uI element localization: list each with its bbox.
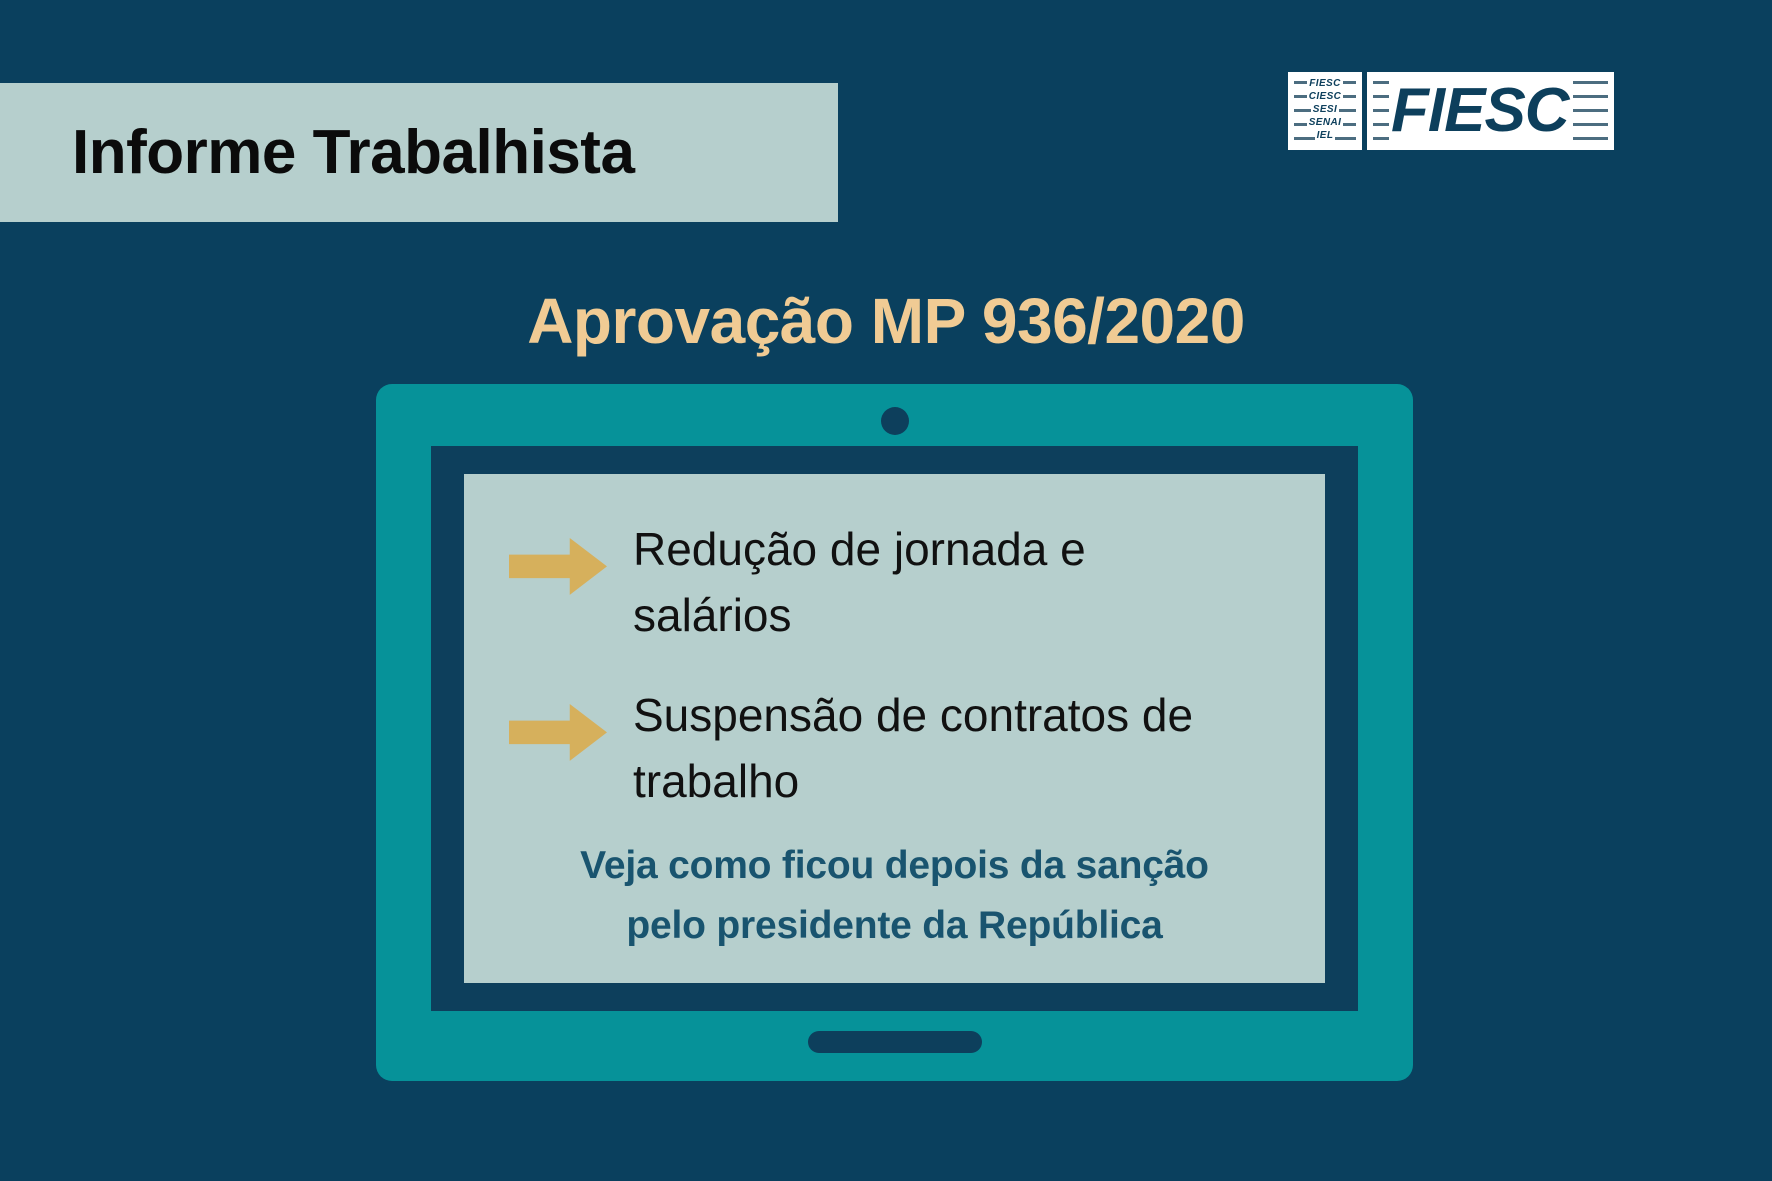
slide-canvas: Informe Trabalhista FIESC CIESC SESI SEN… xyxy=(0,0,1772,1181)
callout-line-1: Veja como ficou depois da sanção xyxy=(464,836,1325,896)
logo-brand-senai: SENAI xyxy=(1307,117,1344,128)
logo-brand-ciesc: CIESC xyxy=(1307,91,1344,102)
list-item-label: Suspensão de contratos de trabalho xyxy=(633,682,1243,814)
logo-brand-iel: IEL xyxy=(1315,130,1336,141)
page-title: Informe Trabalhista xyxy=(72,117,634,188)
callout-text: Veja como ficou depois da sanção pelo pr… xyxy=(464,836,1325,956)
fiesc-logo: FIESC CIESC SESI SENAI IEL FIESC xyxy=(1288,72,1614,150)
list-item-label: Redução de jornada e salários xyxy=(633,516,1243,648)
camera-dot-icon xyxy=(881,407,909,435)
arrow-right-icon xyxy=(509,538,607,595)
arrow-right-icon xyxy=(509,704,607,761)
logo-brand-fiesc: FIESC xyxy=(1307,78,1342,89)
logo-wordmark-box: FIESC xyxy=(1367,72,1614,150)
main-heading: Aprovação MP 936/2020 xyxy=(0,284,1772,358)
logo-wordmark-text: FIESC xyxy=(1389,80,1573,142)
logo-brand-sesi: SESI xyxy=(1311,104,1339,115)
home-button[interactable] xyxy=(808,1031,982,1053)
logo-brand-names: FIESC CIESC SESI SENAI IEL xyxy=(1288,78,1362,141)
list-item: Redução de jornada e salários xyxy=(464,516,1325,648)
tablet-screen: Redução de jornada e salários Suspensão … xyxy=(464,474,1325,983)
tablet-illustration: Redução de jornada e salários Suspensão … xyxy=(376,384,1413,1081)
list-item: Suspensão de contratos de trabalho xyxy=(464,682,1325,814)
bullet-list: Redução de jornada e salários Suspensão … xyxy=(464,516,1325,848)
logo-brand-stack: FIESC CIESC SESI SENAI IEL xyxy=(1288,72,1362,150)
tablet-bezel: Redução de jornada e salários Suspensão … xyxy=(431,446,1358,1011)
callout-line-2: pelo presidente da República xyxy=(464,896,1325,956)
header-band: Informe Trabalhista xyxy=(0,83,838,222)
